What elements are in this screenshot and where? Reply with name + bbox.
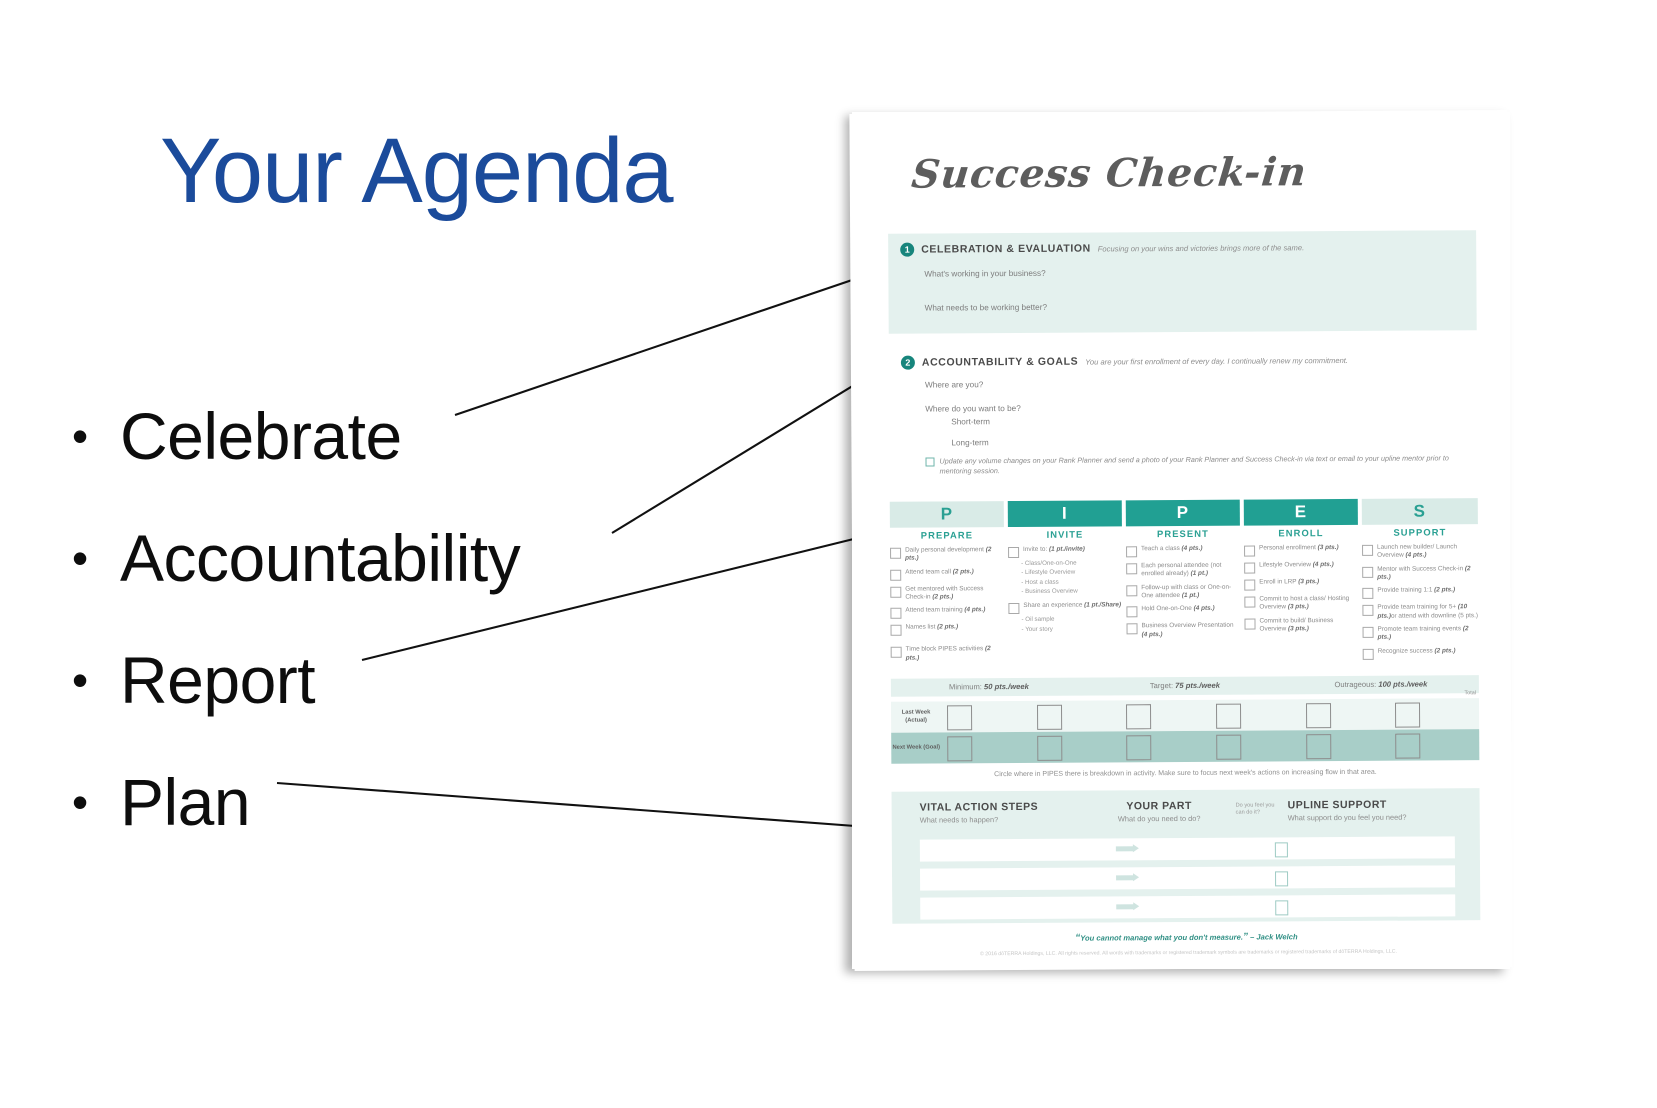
task-label: Enroll in LRP bbox=[1259, 578, 1298, 585]
task-item[interactable]: Attend team call (2 pts.) bbox=[890, 568, 1004, 581]
score-input-box-total[interactable] bbox=[1396, 734, 1421, 759]
task-label: Daily personal development bbox=[905, 546, 986, 553]
score-cell[interactable] bbox=[1031, 731, 1121, 763]
checkbox-icon[interactable] bbox=[1244, 597, 1255, 608]
checkbox-icon[interactable] bbox=[1126, 585, 1137, 596]
score-input-box[interactable] bbox=[1127, 735, 1152, 760]
task-item[interactable]: Time block PIPES activities (2 pts.) bbox=[891, 645, 1005, 662]
checkbox-icon[interactable] bbox=[1244, 546, 1255, 557]
task-item[interactable]: Recognize success (2 pts.) bbox=[1363, 647, 1479, 660]
vas-col-header-upline-support: UPLINE SUPPORT What support do you feel … bbox=[1288, 799, 1407, 823]
prompt-where-are-you: Where are you? bbox=[925, 380, 983, 389]
vital-action-steps-table: VITAL ACTION STEPS What needs to happen?… bbox=[892, 788, 1481, 924]
score-input-box[interactable] bbox=[947, 705, 972, 730]
success-checkin-worksheet: Success Check-in 1 CELEBRATION & EVALUAT… bbox=[849, 110, 1512, 971]
vas-title-upline-support: UPLINE SUPPORT bbox=[1288, 799, 1407, 812]
checkbox-icon[interactable] bbox=[1275, 842, 1288, 857]
task-points: (4 pts.) bbox=[964, 607, 985, 614]
task-label: Personal enrollment bbox=[1259, 544, 1318, 551]
checkbox-icon[interactable] bbox=[1275, 900, 1288, 915]
score-row-next-week: Next Week (Goal) bbox=[891, 729, 1479, 764]
task-subitem: - Business Overview bbox=[1008, 587, 1122, 596]
pipes-column-prepare: PREPARE Daily personal development (2 pt… bbox=[890, 529, 1005, 668]
score-cell[interactable] bbox=[1031, 700, 1121, 732]
target-outrageous: Outrageous: 100 pts./week bbox=[1283, 675, 1479, 694]
bullet-icon: • bbox=[40, 413, 120, 459]
target-value: 75 pts./week bbox=[1175, 681, 1220, 690]
task-points: (1 pt.) bbox=[1182, 592, 1199, 599]
target-value: 100 pts./week bbox=[1378, 679, 1427, 688]
section-title: CELEBRATION & EVALUATION bbox=[921, 243, 1091, 256]
column-title-present: PRESENT bbox=[1126, 528, 1240, 540]
task-item[interactable]: Invite to: (1 pt./invite) bbox=[1008, 545, 1122, 558]
prompt-whats-working: What's working in your business? bbox=[924, 269, 1045, 279]
arrow-icon bbox=[1116, 875, 1134, 880]
task-item[interactable]: Promote team training events (2 pts.) bbox=[1363, 625, 1479, 642]
pipes-letter-e: E bbox=[1244, 499, 1358, 526]
section-celebration-evaluation: 1 CELEBRATION & EVALUATION Focusing on y… bbox=[888, 230, 1477, 334]
task-item[interactable]: Teach a class (4 pts.) bbox=[1126, 545, 1240, 558]
section-header: 2 ACCOUNTABILITY & GOALS You are your fi… bbox=[901, 353, 1348, 370]
score-cell[interactable] bbox=[1300, 699, 1390, 731]
quote-attribution: – Jack Welch bbox=[1248, 932, 1298, 941]
score-input-box[interactable] bbox=[1126, 704, 1151, 729]
task-subitem: - Your story bbox=[1009, 625, 1123, 634]
target-value: 50 pts./week bbox=[984, 682, 1029, 691]
task-label: Promote team training events bbox=[1378, 625, 1463, 633]
score-input-box[interactable] bbox=[1037, 705, 1062, 730]
bullet-icon: • bbox=[40, 535, 120, 581]
pipes-column-invite: INVITE Invite to: (1 pt./invite) - Class… bbox=[1008, 528, 1123, 638]
bullet-icon: • bbox=[40, 657, 120, 703]
vas-sub-your-part: What do you need to do? bbox=[1097, 814, 1222, 824]
task-label: Recognize success bbox=[1378, 647, 1435, 654]
task-item[interactable]: Mentor with Success Check-in (2 pts.) bbox=[1362, 565, 1478, 582]
task-subitem: - Lifestyle Overview bbox=[1008, 569, 1122, 578]
score-cell[interactable] bbox=[1120, 700, 1210, 732]
list-item: • Report bbox=[40, 619, 680, 741]
score-cell-total[interactable] bbox=[1389, 698, 1479, 730]
task-points: (3 pts.) bbox=[1318, 544, 1339, 551]
prompt-long-term: Long-term bbox=[951, 438, 988, 447]
task-label: Business Overview Presentation bbox=[1142, 622, 1234, 630]
score-cell[interactable] bbox=[1300, 730, 1390, 762]
weekly-targets-row: Minimum: 50 pts./week Target: 75 pts./we… bbox=[891, 675, 1479, 697]
task-label: Names list bbox=[906, 624, 938, 631]
task-item[interactable]: Provide training 1:1 (2 pts.) bbox=[1362, 586, 1478, 599]
arrow-icon bbox=[1116, 904, 1134, 909]
task-subitem: - Class/One-on-One bbox=[1008, 559, 1122, 568]
score-grid: Total Last Week (Actual) Next Week (Goal… bbox=[891, 698, 1479, 764]
circle-breakdown-note: Circle where in PIPES there is breakdown… bbox=[891, 768, 1479, 779]
vas-col-header-your-part: YOUR PART What do you need to do? bbox=[1097, 800, 1222, 824]
section-header: 1 CELEBRATION & EVALUATION Focusing on y… bbox=[900, 240, 1304, 256]
checkbox-icon[interactable] bbox=[1008, 603, 1019, 614]
vas-sub-confidence: Do you feel you can do it? bbox=[1236, 802, 1282, 817]
task-points: (2 pts.) bbox=[1434, 587, 1455, 594]
vas-col-header-actions: VITAL ACTION STEPS What needs to happen? bbox=[920, 801, 1039, 825]
vas-sub-vital-action-steps: What needs to happen? bbox=[920, 815, 1039, 825]
score-row-label: Next Week (Goal) bbox=[891, 744, 941, 752]
list-item: • Plan bbox=[40, 741, 680, 863]
task-label: Attend team training bbox=[905, 607, 964, 614]
task-item[interactable]: Commit to build/ Business Overview (3 pt… bbox=[1244, 617, 1358, 634]
section-subtitle: You are your first enrollment of every d… bbox=[1085, 355, 1348, 366]
task-item[interactable]: Get mentored with Success Check-in (2 pt… bbox=[890, 585, 1004, 602]
vas-sub-upline-support: What support do you feel you need? bbox=[1288, 813, 1407, 823]
score-cell[interactable] bbox=[1210, 730, 1300, 762]
agenda-item-report: Report bbox=[120, 647, 315, 713]
checkbox-icon[interactable] bbox=[1127, 624, 1138, 635]
score-row-last-week: Last Week (Actual) bbox=[891, 698, 1479, 733]
prompt-short-term: Short-term bbox=[951, 417, 990, 426]
task-points: (3 pts.) bbox=[1288, 604, 1309, 611]
target-label: Minimum: bbox=[949, 682, 984, 691]
checkbox-icon[interactable] bbox=[1126, 607, 1137, 618]
score-input-box[interactable] bbox=[947, 736, 972, 761]
task-points: (4 pts.) bbox=[1182, 545, 1203, 552]
task-subitem: - Oil sample bbox=[1008, 616, 1122, 625]
table-row[interactable] bbox=[920, 894, 1455, 919]
checkbox-icon[interactable] bbox=[1008, 547, 1019, 558]
target-target: Target: 75 pts./week bbox=[1087, 676, 1283, 695]
checkbox-icon[interactable] bbox=[891, 647, 902, 658]
task-label: Attend team call bbox=[905, 568, 953, 575]
score-input-box[interactable] bbox=[1216, 704, 1241, 729]
score-cell-total[interactable] bbox=[1390, 729, 1480, 761]
task-subitem: - Host a class bbox=[1008, 578, 1122, 587]
checkbox-icon[interactable] bbox=[890, 569, 901, 580]
task-points: (1 pt./invite) bbox=[1049, 546, 1085, 553]
checkbox-icon[interactable] bbox=[1244, 563, 1255, 574]
score-input-box[interactable] bbox=[1306, 734, 1331, 759]
pipes-column-present: PRESENT Teach a class (4 pts.) Each pers… bbox=[1126, 528, 1241, 645]
checkbox-icon[interactable] bbox=[1363, 627, 1374, 638]
column-title-invite: INVITE bbox=[1008, 528, 1122, 540]
task-item[interactable]: Personal enrollment (3 pts.) bbox=[1244, 544, 1358, 557]
checkbox-icon[interactable] bbox=[890, 548, 901, 559]
page-title: Your Agenda bbox=[160, 125, 673, 217]
checkbox-icon[interactable] bbox=[1244, 618, 1255, 629]
score-input-box[interactable] bbox=[1306, 703, 1331, 728]
task-item[interactable]: Launch new builder/ Launch Overview (4 p… bbox=[1362, 543, 1478, 560]
pipes-letter-s: S bbox=[1362, 498, 1478, 525]
pipes-letter-band: P I P E S bbox=[890, 498, 1478, 528]
checkbox-icon[interactable] bbox=[1244, 580, 1255, 591]
score-cell[interactable] bbox=[1121, 731, 1211, 763]
copyright-notice: © 2016 dōTERRA Holdings, LLC. All rights… bbox=[879, 948, 1499, 958]
agenda-item-celebrate: Celebrate bbox=[120, 403, 402, 469]
footer-quote: “You cannot manage what you don't measur… bbox=[892, 930, 1480, 945]
rank-planner-note-text: Update any volume changes on your Rank P… bbox=[939, 453, 1470, 477]
quote-text: You cannot manage what you don't measure… bbox=[1080, 933, 1243, 943]
score-input-box-total[interactable] bbox=[1395, 703, 1420, 728]
target-label: Target: bbox=[1150, 681, 1175, 690]
section-number-badge: 1 bbox=[900, 243, 914, 257]
task-label: Teach a class bbox=[1141, 545, 1182, 552]
task-label: Provide team training for 5+ bbox=[1377, 604, 1458, 611]
checkbox-icon[interactable] bbox=[925, 458, 934, 467]
task-label: Share an experience bbox=[1023, 602, 1084, 609]
list-item: • Celebrate bbox=[40, 375, 680, 497]
table-row[interactable] bbox=[920, 865, 1455, 890]
task-item[interactable]: Provide team training for 5+ (10 pts.)or… bbox=[1362, 603, 1478, 620]
rank-planner-note: Update any volume changes on your Rank P… bbox=[925, 453, 1470, 477]
vas-title-your-part: YOUR PART bbox=[1097, 800, 1222, 813]
checkbox-icon[interactable] bbox=[1126, 546, 1137, 557]
prompt-where-want-to-be: Where do you want to be? bbox=[925, 404, 1021, 414]
prompt-needs-better: What needs to be working better? bbox=[925, 303, 1047, 313]
pipes-letter-p2: P bbox=[1126, 500, 1240, 527]
task-points: (3 pts.) bbox=[1288, 625, 1309, 632]
pipes-column-enroll: ENROLL Personal enrollment (3 pts.) Life… bbox=[1244, 527, 1359, 639]
task-points: (1 pt.) bbox=[1191, 570, 1208, 577]
task-label: Hold One-on-One bbox=[1141, 605, 1193, 612]
arrow-icon bbox=[1116, 846, 1134, 851]
checkbox-icon[interactable] bbox=[1362, 605, 1373, 616]
task-item[interactable]: Commit to host a class/ Hosting Overview… bbox=[1244, 595, 1358, 612]
worksheet-title: Success Check-in bbox=[909, 149, 1309, 197]
vas-title-vital-action-steps: VITAL ACTION STEPS bbox=[920, 801, 1039, 814]
checkbox-icon[interactable] bbox=[1275, 871, 1288, 886]
section-title: ACCOUNTABILITY & GOALS bbox=[922, 356, 1078, 369]
task-label: Time block PIPES activities bbox=[906, 646, 985, 653]
task-label: Each personal attendee (not enrolled alr… bbox=[1141, 562, 1221, 578]
checkbox-icon[interactable] bbox=[1362, 566, 1373, 577]
score-input-box[interactable] bbox=[1216, 735, 1241, 760]
column-title-prepare: PREPARE bbox=[890, 529, 1004, 541]
pipes-letter-i: I bbox=[1008, 500, 1122, 527]
agenda-item-plan: Plan bbox=[120, 769, 250, 835]
task-points: (3 pts.) bbox=[1298, 578, 1319, 585]
task-points: (2 pts.) bbox=[937, 624, 958, 631]
task-item[interactable]: Share an experience (1 pt./Share) bbox=[1008, 602, 1122, 615]
checkbox-icon[interactable] bbox=[1362, 545, 1373, 556]
task-label: Provide training 1:1 bbox=[1377, 587, 1434, 594]
task-label: Lifestyle Overview bbox=[1259, 561, 1313, 568]
task-label: Mentor with Success Check-in bbox=[1377, 565, 1465, 573]
checkbox-icon[interactable] bbox=[1126, 563, 1137, 574]
score-input-box[interactable] bbox=[1037, 736, 1062, 761]
checkbox-icon[interactable] bbox=[1363, 648, 1374, 659]
checkbox-icon[interactable] bbox=[891, 625, 902, 636]
pipes-column-support: SUPPORT Launch new builder/ Launch Overv… bbox=[1362, 526, 1479, 664]
checkbox-icon[interactable] bbox=[1362, 588, 1373, 599]
score-cell[interactable] bbox=[941, 732, 1031, 764]
section-accountability-goals: 2 ACCOUNTABILITY & GOALS You are your fi… bbox=[889, 343, 1478, 484]
checkbox-icon[interactable] bbox=[890, 586, 901, 597]
checkbox-icon[interactable] bbox=[890, 608, 901, 619]
bullet-icon: • bbox=[40, 779, 120, 825]
vas-col-header-confidence: Do you feel you can do it? bbox=[1236, 802, 1282, 817]
task-points: (4 pts.) bbox=[1194, 605, 1215, 612]
task-item[interactable]: Lifestyle Overview (4 pts.) bbox=[1244, 561, 1358, 574]
column-title-support: SUPPORT bbox=[1362, 526, 1478, 538]
task-points: (2 pts.) bbox=[1434, 647, 1455, 654]
task-item[interactable]: Attend team training (4 pts.) bbox=[890, 606, 1004, 619]
task-extra: or attend with downline (5 pts.) bbox=[1391, 612, 1478, 620]
section-number-badge: 2 bbox=[901, 356, 915, 370]
task-label: Invite to: bbox=[1023, 546, 1049, 553]
task-points: (2 pts.) bbox=[932, 593, 953, 600]
task-points: (4 pts.) bbox=[1405, 552, 1426, 559]
agenda-list: • Celebrate • Accountability • Report • … bbox=[40, 375, 680, 863]
total-label: Total bbox=[1465, 690, 1476, 696]
task-item[interactable]: Hold One-on-One (4 pts.) bbox=[1126, 605, 1240, 618]
agenda-item-accountability: Accountability bbox=[120, 525, 520, 591]
task-points: (4 pts.) bbox=[1142, 631, 1163, 638]
pipes-letter-p1: P bbox=[890, 501, 1004, 528]
task-item[interactable]: Names list (2 pts.) bbox=[891, 623, 1005, 636]
target-label: Outrageous: bbox=[1334, 680, 1378, 689]
task-points: (1 pt./Share) bbox=[1084, 602, 1121, 609]
task-item[interactable]: Business Overview Presentation (4 pts.) bbox=[1127, 622, 1241, 639]
task-item[interactable]: Follow-up with class or One-on-One atten… bbox=[1126, 583, 1240, 600]
target-minimum: Minimum: 50 pts./week bbox=[891, 678, 1087, 697]
task-points: (2 pts.) bbox=[953, 568, 974, 575]
task-item[interactable]: Daily personal development (2 pts.) bbox=[890, 546, 1004, 563]
score-row-label: Last Week (Actual) bbox=[891, 710, 941, 725]
section-subtitle: Focusing on your wins and victories brin… bbox=[1098, 243, 1304, 253]
table-row[interactable] bbox=[920, 836, 1455, 861]
task-item[interactable]: Each personal attendee (not enrolled alr… bbox=[1126, 562, 1240, 579]
list-item: • Accountability bbox=[40, 497, 680, 619]
task-points: (4 pts.) bbox=[1313, 561, 1334, 568]
task-item[interactable]: Enroll in LRP (3 pts.) bbox=[1244, 578, 1358, 591]
score-cell[interactable] bbox=[941, 701, 1031, 733]
score-cell[interactable] bbox=[1210, 699, 1300, 731]
column-title-enroll: ENROLL bbox=[1244, 527, 1358, 539]
